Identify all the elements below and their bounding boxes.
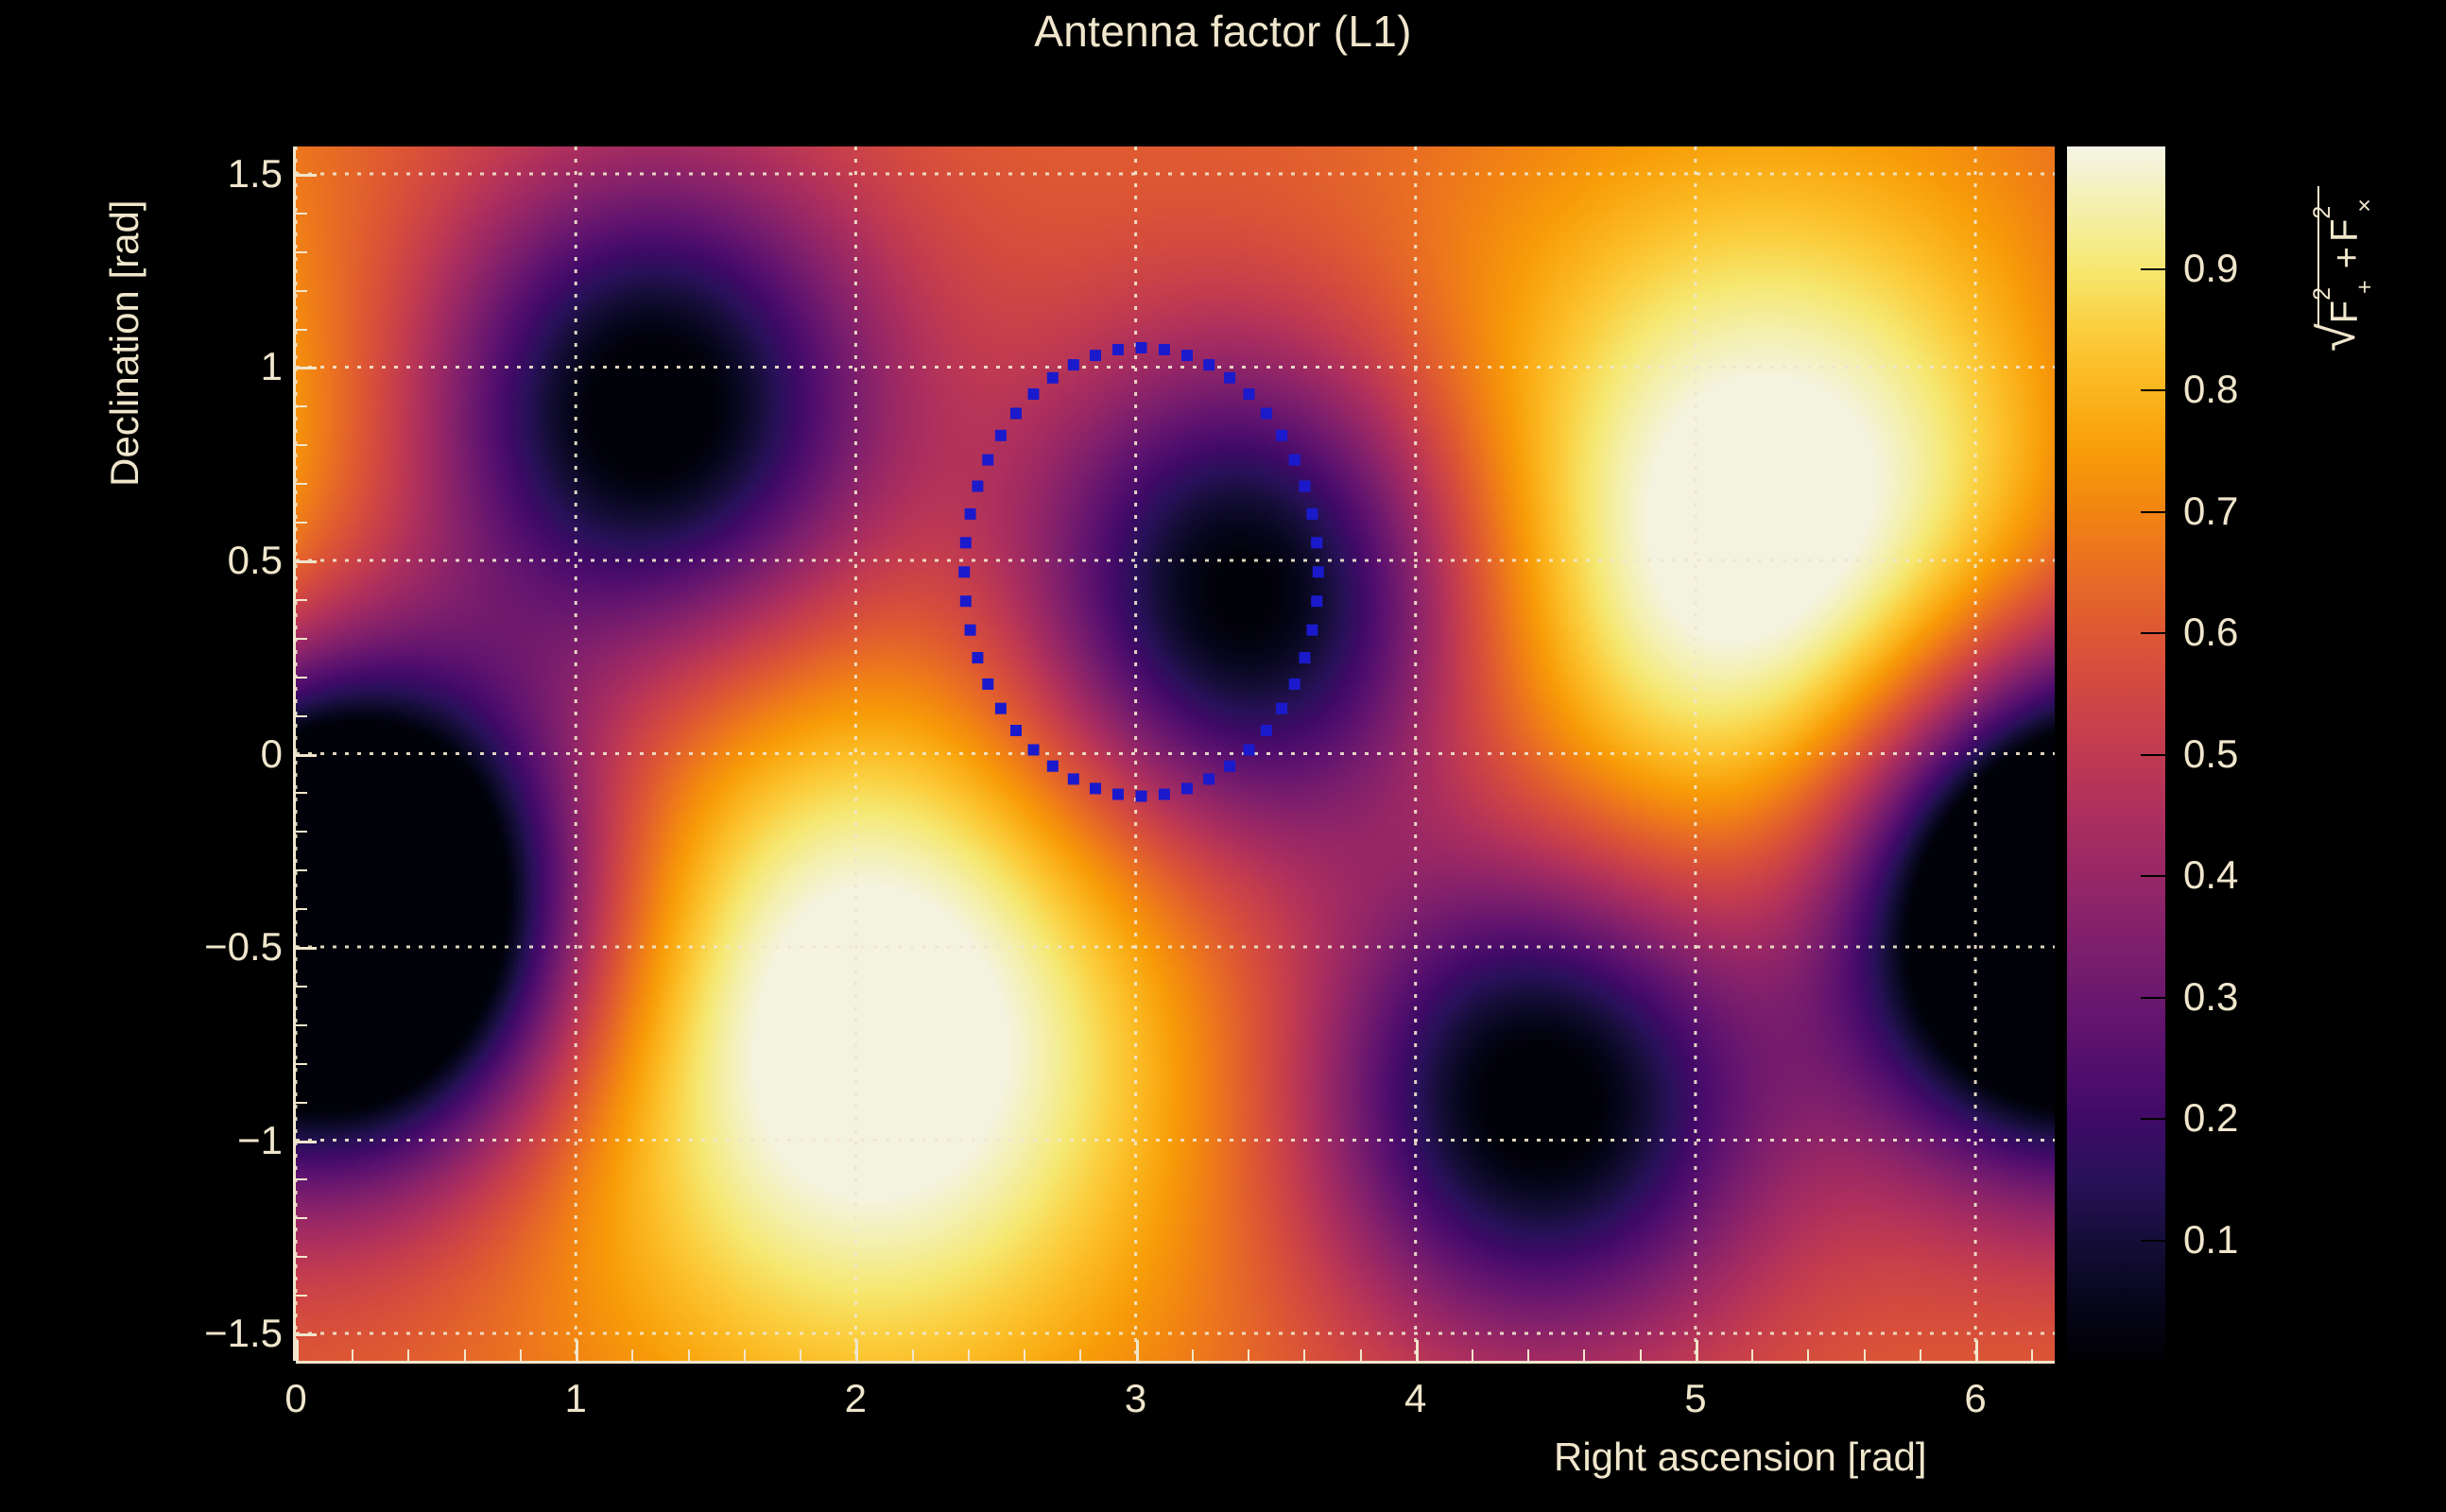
x-minor-tick xyxy=(912,1349,914,1361)
y-minor-tick xyxy=(296,792,307,794)
colorbar-tick xyxy=(2141,875,2165,877)
y-minor-tick xyxy=(296,1102,307,1104)
y-minor-tick xyxy=(296,290,307,292)
y-minor-tick xyxy=(296,1024,307,1026)
y-minor-tick xyxy=(296,908,307,910)
colorbar-tick xyxy=(2141,997,2165,999)
y-minor-tick xyxy=(296,329,307,331)
x-tick-label: 3 xyxy=(1125,1376,1146,1421)
x-tick-label: 2 xyxy=(845,1376,867,1421)
x-minor-tick xyxy=(352,1349,353,1361)
x-axis-line xyxy=(296,1361,2055,1364)
y-tick-label: −1.5 xyxy=(173,1311,283,1356)
x-minor-tick xyxy=(1192,1349,1194,1361)
colorbar-tick xyxy=(2141,1240,2165,1242)
radical-body: F2+ + F2× xyxy=(2317,186,2371,327)
f-plus-subscript: + xyxy=(2351,280,2378,294)
x-minor-tick xyxy=(1248,1349,1249,1361)
y-minor-tick xyxy=(296,522,307,524)
y-minor-tick xyxy=(296,251,307,253)
x-tick xyxy=(1975,1340,1978,1361)
x-minor-tick xyxy=(464,1349,466,1361)
colorbar-tick-label: 0.6 xyxy=(2183,610,2238,655)
x-tick-label: 5 xyxy=(1684,1376,1706,1421)
y-tick xyxy=(296,367,317,369)
f-cross-term: F2× xyxy=(2322,192,2371,242)
heatmap-frame xyxy=(296,146,2055,1361)
colorbar-tick-label: 0.8 xyxy=(2183,367,2238,412)
y-axis-title: Declination [rad] xyxy=(102,200,147,488)
x-tick-label: 4 xyxy=(1404,1376,1426,1421)
z-axis-title: √ F2+ + F2× xyxy=(2317,186,2371,352)
f-cross-subscript: × xyxy=(2351,198,2378,213)
x-tick xyxy=(1136,1340,1139,1361)
page-title: Antenna factor (L1) xyxy=(0,6,2446,57)
x-minor-tick xyxy=(1079,1349,1081,1361)
y-minor-tick xyxy=(296,1256,307,1258)
x-minor-tick xyxy=(1360,1349,1362,1361)
x-tick xyxy=(1696,1340,1698,1361)
colorbar-tick-label: 0.4 xyxy=(2183,852,2238,898)
colorbar-tick xyxy=(2141,268,2165,270)
y-tick-label: −0.5 xyxy=(173,924,283,970)
x-tick xyxy=(855,1340,858,1361)
f-plus-exponent: 2 xyxy=(2309,287,2335,301)
y-minor-tick xyxy=(296,831,307,833)
radical-sign: √ xyxy=(2317,323,2371,352)
plot-canvas: Antenna factor (L1) 01234561.510.50−0.5−… xyxy=(0,0,2446,1512)
y-tick xyxy=(296,560,317,563)
colorbar-tick xyxy=(2141,511,2165,513)
y-minor-tick xyxy=(296,444,307,446)
y-tick-label: −1 xyxy=(173,1118,283,1163)
y-minor-tick xyxy=(296,1295,307,1297)
y-minor-tick xyxy=(296,986,307,988)
f-cross-exponent: 2 xyxy=(2309,206,2335,219)
sqrt-expression: √ F2+ + F2× xyxy=(2317,186,2371,352)
colorbar-tick-label: 0.9 xyxy=(2183,246,2238,291)
f-plus-term: F2+ xyxy=(2322,273,2371,323)
y-minor-tick xyxy=(296,405,307,407)
colorbar-tick-label: 0.7 xyxy=(2183,489,2238,534)
colorbar-tick xyxy=(2141,1118,2165,1120)
x-tick-label: 0 xyxy=(284,1376,306,1421)
x-minor-tick xyxy=(1640,1349,1642,1361)
x-minor-tick xyxy=(1920,1349,1921,1361)
f-cross-base: F xyxy=(2323,219,2365,242)
y-minor-tick xyxy=(296,1141,307,1143)
y-tick-label: 0.5 xyxy=(173,538,283,583)
colorbar-tick xyxy=(2141,754,2165,756)
x-minor-tick xyxy=(968,1349,970,1361)
sky-localization-contour xyxy=(296,146,2055,1361)
y-minor-tick xyxy=(296,1178,307,1180)
x-minor-tick xyxy=(631,1349,633,1361)
x-minor-tick xyxy=(744,1349,746,1361)
y-minor-tick xyxy=(296,1063,307,1065)
x-minor-tick xyxy=(1527,1349,1529,1361)
x-minor-tick xyxy=(520,1349,522,1361)
x-minor-tick xyxy=(688,1349,690,1361)
x-minor-tick xyxy=(800,1349,801,1361)
x-tick xyxy=(296,1340,299,1361)
plus-operator: + xyxy=(2326,247,2368,268)
x-minor-tick xyxy=(1864,1349,1866,1361)
y-minor-tick xyxy=(296,947,307,949)
y-minor-tick xyxy=(296,213,307,215)
colorbar-tick-label: 0.2 xyxy=(2183,1095,2238,1141)
y-tick xyxy=(296,174,317,177)
x-minor-tick xyxy=(1024,1349,1025,1361)
x-minor-tick xyxy=(1472,1349,1473,1361)
f-plus-base: F xyxy=(2323,301,2365,323)
colorbar-tick xyxy=(2141,389,2165,391)
y-tick-label: 1.5 xyxy=(173,151,283,197)
y-tick xyxy=(296,1333,317,1336)
colorbar-tick-label: 0.1 xyxy=(2183,1217,2238,1263)
x-tick-label: 1 xyxy=(564,1376,586,1421)
x-tick-label: 6 xyxy=(1964,1376,1986,1421)
y-minor-tick xyxy=(296,869,307,871)
colorbar-tick-label: 0.5 xyxy=(2183,731,2238,777)
y-minor-tick xyxy=(296,483,307,485)
y-tick-label: 0 xyxy=(173,731,283,777)
x-tick xyxy=(1416,1340,1419,1361)
x-minor-tick xyxy=(1303,1349,1305,1361)
y-minor-tick xyxy=(296,638,307,640)
x-minor-tick xyxy=(407,1349,409,1361)
x-minor-tick xyxy=(1807,1349,1809,1361)
y-minor-tick xyxy=(296,715,307,717)
x-minor-tick xyxy=(1751,1349,1753,1361)
y-minor-tick xyxy=(296,677,307,679)
x-axis-title: Right ascension [rad] xyxy=(1554,1435,1927,1480)
colorbar-tick xyxy=(2141,632,2165,634)
colorbar-tick-label: 0.3 xyxy=(2183,974,2238,1020)
y-minor-tick xyxy=(296,599,307,601)
x-tick xyxy=(576,1340,578,1361)
y-minor-tick xyxy=(296,1217,307,1219)
y-tick xyxy=(296,754,317,757)
x-minor-tick xyxy=(2031,1349,2033,1361)
y-tick-label: 1 xyxy=(173,344,283,389)
x-minor-tick xyxy=(1583,1349,1585,1361)
